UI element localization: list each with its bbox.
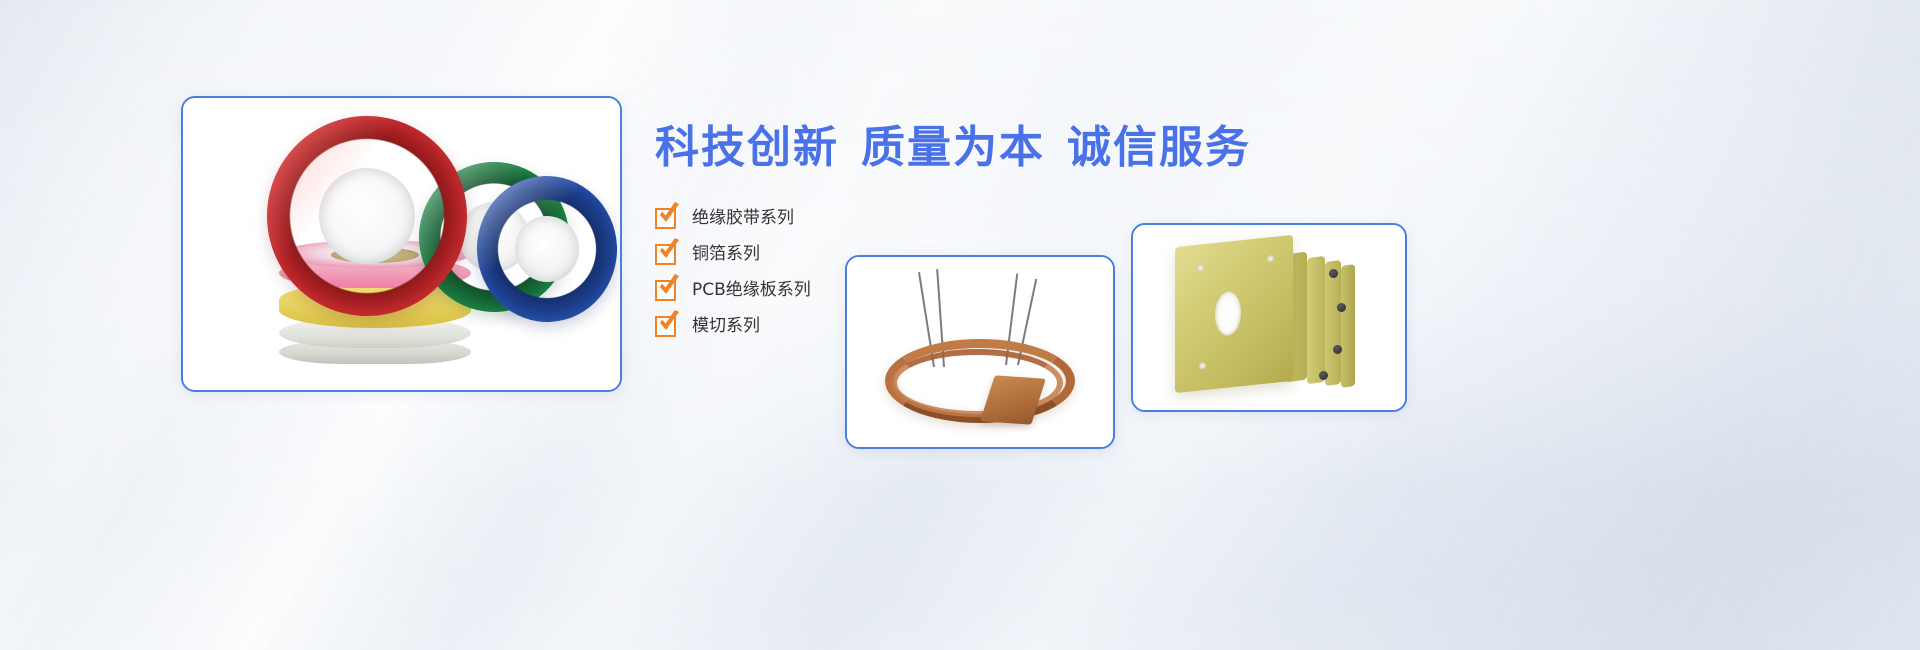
- feature-label: 绝缘胶带系列: [692, 208, 794, 228]
- feature-item[interactable]: 绝缘胶带系列: [655, 200, 1295, 236]
- checkbox-checked-icon: [655, 208, 676, 229]
- feature-item[interactable]: PCB绝缘板系列: [655, 272, 1295, 308]
- pcb-screw: [1333, 345, 1342, 354]
- pcb-plate-back-2: [1307, 256, 1325, 385]
- checkbox-checked-icon: [655, 280, 676, 301]
- pcb-screw: [1319, 371, 1328, 380]
- feature-label: 模切系列: [692, 316, 760, 336]
- pcb-plate-back-3: [1325, 260, 1341, 386]
- pcb-screw: [1329, 269, 1338, 278]
- checkbox-checked-icon: [655, 244, 676, 265]
- promo-banner: 科技创新质量为本诚信服务 绝缘胶带系列 铜箔系列: [0, 0, 1920, 650]
- feature-list: 绝缘胶带系列 铜箔系列 PCB绝缘板系列: [655, 200, 1295, 344]
- checkbox-checked-icon: [655, 316, 676, 337]
- insulation-tape-image: [183, 98, 620, 390]
- headline-segment-1: 科技创新: [655, 120, 839, 176]
- headline-segment-3: 诚信服务: [1067, 120, 1251, 176]
- product-card-insulation-tape[interactable]: [181, 96, 622, 392]
- feature-item[interactable]: 模切系列: [655, 308, 1295, 344]
- feature-label: PCB绝缘板系列: [692, 280, 811, 300]
- pcb-hole: [1199, 362, 1206, 370]
- pcb-plate-back-4: [1341, 264, 1355, 388]
- pcb-screw: [1337, 303, 1346, 312]
- headline-segment-2: 质量为本: [861, 120, 1045, 176]
- tape-core-blue: [513, 214, 580, 283]
- banner-text-block: 科技创新质量为本诚信服务 绝缘胶带系列 铜箔系列: [655, 120, 1295, 344]
- feature-label: 铜箔系列: [692, 244, 760, 264]
- feature-item[interactable]: 铜箔系列: [655, 236, 1295, 272]
- banner-headline: 科技创新质量为本诚信服务: [655, 120, 1295, 176]
